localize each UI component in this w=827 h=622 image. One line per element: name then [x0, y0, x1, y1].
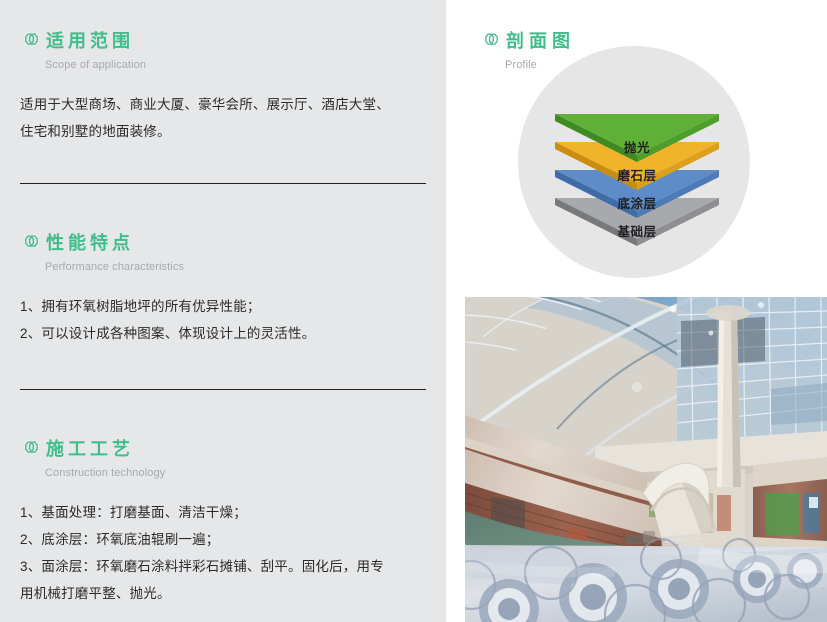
body-line: 用机械打磨平整、抛光。	[20, 580, 426, 607]
section-body: 1、基面处理：打磨基面、清洁干燥； 2、底涂层：环氧底油辊刷一遍； 3、面涂层：…	[20, 499, 426, 607]
body-line: 适用于大型商场、商业大厦、豪华会所、展示厅、酒店大堂、	[20, 91, 426, 118]
section-construction: 施工工艺 Construction technology 1、基面处理：打磨基面…	[20, 436, 426, 607]
body-line: 1、基面处理：打磨基面、清洁干燥；	[20, 499, 426, 526]
section-scope: 适用范围 Scope of application 适用于大型商场、商业大厦、豪…	[20, 28, 426, 145]
product-sheet-page: 适用范围 Scope of application 适用于大型商场、商业大厦、豪…	[0, 0, 827, 622]
section-header: 施工工艺	[20, 436, 426, 462]
right-column: 剖面图 Profile	[446, 0, 827, 622]
profile-diagram: 抛光 磨石层 底涂层 基础层	[446, 0, 827, 291]
layer-label-primer: 底涂层	[617, 197, 656, 211]
section-header: 适用范围	[20, 28, 426, 54]
left-info-panel: 适用范围 Scope of application 适用于大型商场、商业大厦、豪…	[0, 0, 446, 622]
section-title: 施工工艺	[46, 438, 134, 460]
section-divider	[20, 389, 426, 390]
double-ring-icon	[20, 233, 41, 254]
section-body: 适用于大型商场、商业大厦、豪华会所、展示厅、酒店大堂、 住宅和别墅的地面装修。	[20, 91, 426, 145]
double-ring-icon	[20, 439, 41, 460]
section-performance: 性能特点 Performance characteristics 1、拥有环氧树…	[20, 230, 426, 347]
section-subtitle: Scope of application	[45, 58, 426, 73]
layer-label-base: 基础层	[617, 225, 656, 239]
body-line: 2、可以设计成各种图案、体现设计上的灵活性。	[20, 320, 426, 347]
section-subtitle: Construction technology	[45, 466, 426, 481]
atrium-lobby-illustration	[465, 297, 827, 622]
section-subtitle: Performance characteristics	[45, 260, 426, 275]
section-header: 性能特点	[20, 230, 426, 256]
section-body: 1、拥有环氧树脂地坪的所有优异性能； 2、可以设计成各种图案、体现设计上的灵活性…	[20, 293, 426, 347]
body-line: 3、面涂层：环氧磨石涂料拌彩石摊铺、刮平。固化后，用专	[20, 553, 426, 580]
layer-label-terrazzo: 磨石层	[617, 169, 656, 183]
body-line: 住宅和别墅的地面装修。	[20, 118, 426, 145]
section-title: 适用范围	[46, 30, 134, 52]
double-ring-icon	[20, 31, 41, 52]
section-title: 性能特点	[46, 232, 134, 254]
body-line: 2、底涂层：环氧底油辊刷一遍；	[20, 526, 426, 553]
layer-label-polish: 抛光	[624, 141, 650, 155]
project-photo	[465, 297, 827, 622]
section-divider	[20, 183, 426, 184]
body-line: 1、拥有环氧树脂地坪的所有优异性能；	[20, 293, 426, 320]
